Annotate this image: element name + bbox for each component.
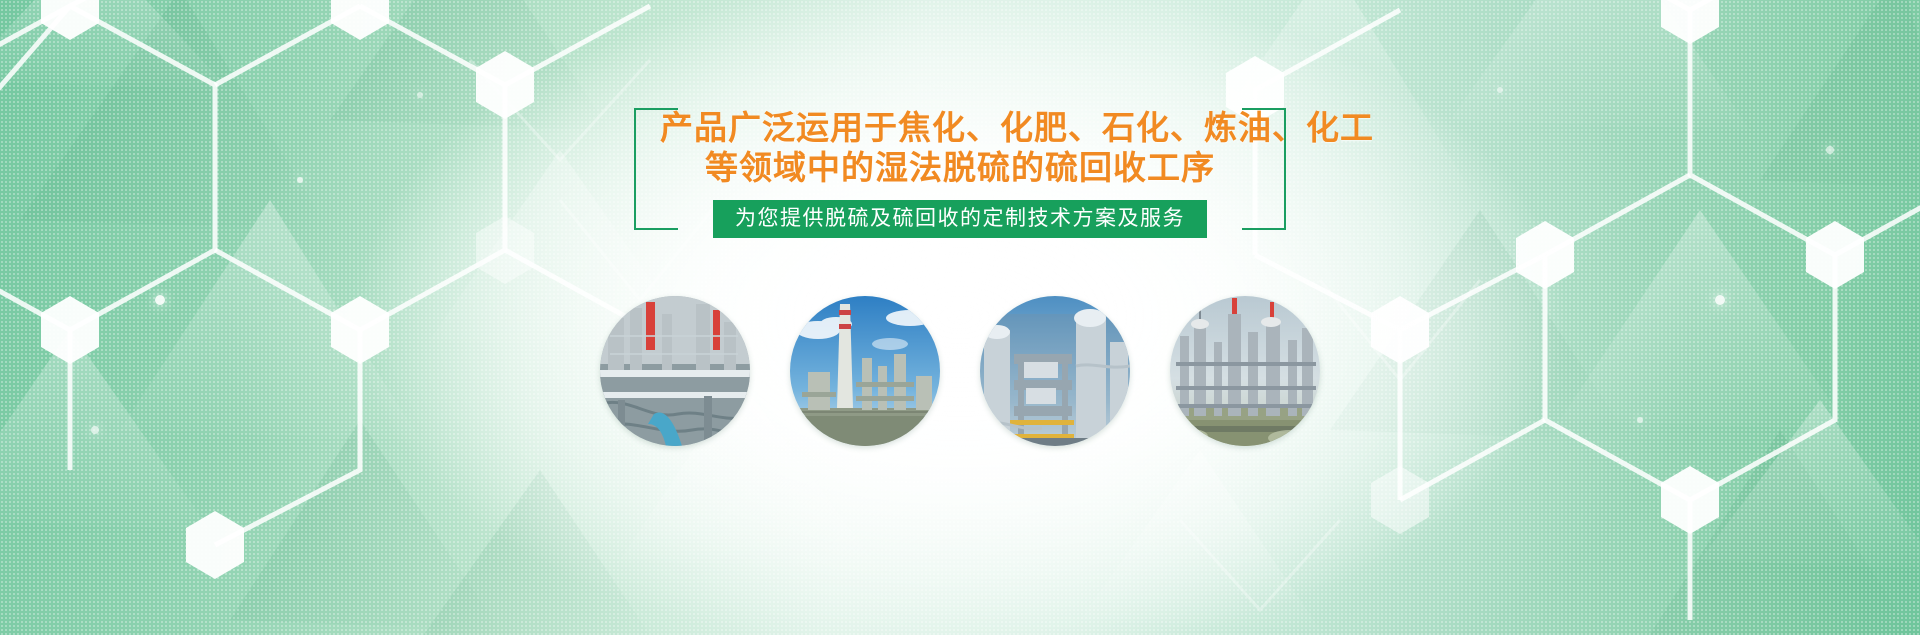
- bracket-left-decoration: [634, 108, 678, 230]
- headline-line-2: 等领域中的湿法脱硫的硫回收工序: [660, 148, 1260, 188]
- headline-text: 产品广泛运用于焦化、化肥、石化、炼油、化工 等领域中的湿法脱硫的硫回收工序: [650, 108, 1270, 188]
- headline-line-1: 产品广泛运用于焦化、化肥、石化、炼油、化工: [660, 108, 1260, 148]
- subheadline-bar: 为您提供脱硫及硫回收的定制技术方案及服务: [713, 200, 1207, 238]
- photo-chimney-plant[interactable]: [790, 296, 940, 446]
- photo-circle-row: [0, 296, 1920, 446]
- hero-banner: 产品广泛运用于焦化、化肥、石化、炼油、化工 等领域中的湿法脱硫的硫回收工序 为您…: [0, 0, 1920, 635]
- photo-pipework-plant[interactable]: [600, 296, 750, 446]
- photo-desulfurization-unit[interactable]: [980, 296, 1130, 446]
- subheadline-text: 为您提供脱硫及硫回收的定制技术方案及服务: [735, 200, 1185, 238]
- bracket-right-decoration: [1242, 108, 1286, 230]
- photo-refinery-towers[interactable]: [1170, 296, 1320, 446]
- headline-block: 产品广泛运用于焦化、化肥、石化、炼油、化工 等领域中的湿法脱硫的硫回收工序: [0, 108, 1920, 188]
